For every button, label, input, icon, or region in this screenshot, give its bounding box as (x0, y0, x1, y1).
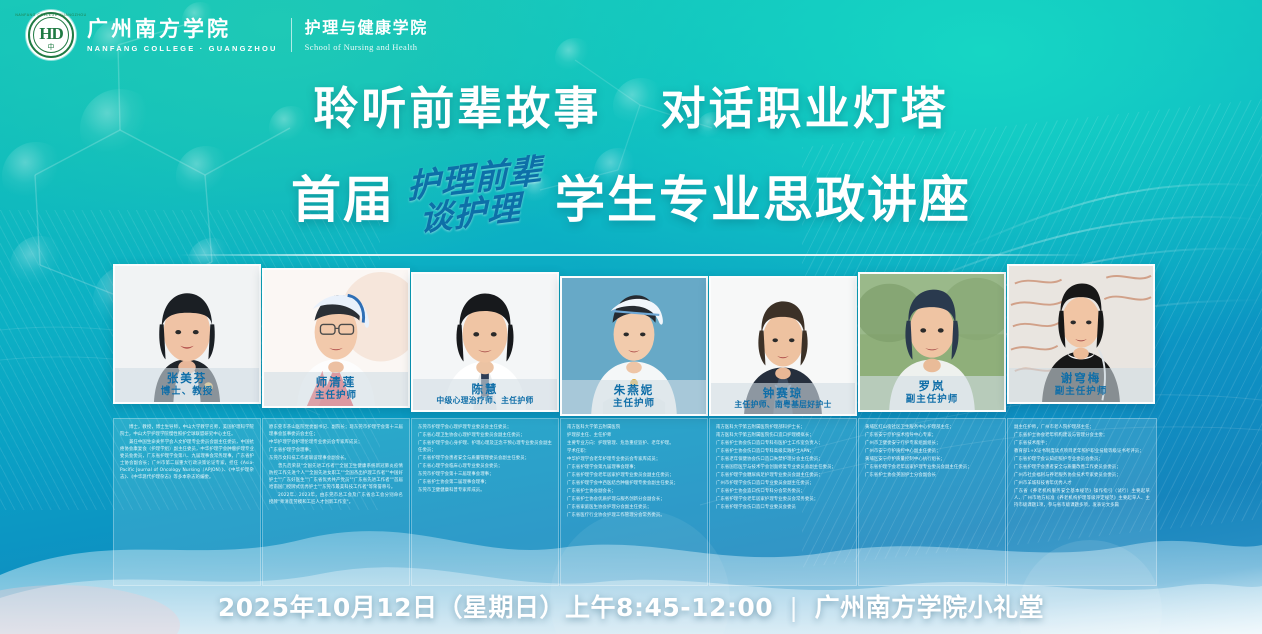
bio-paragraph: 广州市社会福利与养老服务协会技术专家委员会委员； (1014, 472, 1150, 479)
bio-paragraph: 广东省护理学会患者安全与质量改善工作委员会委员； (1014, 464, 1150, 471)
bio-paragraph: 广东省护理学会心身护理、护理心理及正念干预心理专业委员会副主任委员； (418, 440, 552, 454)
bio-paragraph: 学术任职： (567, 448, 701, 455)
bio-paragraph: 副主任护师，广州市老人院护理部主任； (1014, 424, 1150, 431)
bio-paragraph: 中华护理学会护理伦理专业委员会专家库成员； (269, 439, 403, 446)
bio-paragraph: 原东莞市茶山医院党委副书记、副院长；现东莞市护理学会第十三届理事会监事委员会主任… (269, 424, 403, 438)
speaker-name: 张美芬 (115, 371, 259, 385)
speaker-name-band: 谢穹梅 副主任护师 (1009, 368, 1153, 402)
speaker-name: 师清莲 (264, 375, 408, 389)
bio-paragraph: 教育部1+X证书制度试点项目老年照护职业技能等级证书考评员； (1014, 448, 1150, 455)
main-title-part2: 对话职业灯塔 (661, 82, 949, 135)
speaker-bio: 副主任护师，广州市老人院护理部主任； 广东省护士协会老年机构建设与管理分会主委；… (1007, 418, 1157, 586)
speaker-photo: 罗岚 副主任护师 (858, 272, 1006, 412)
bio-paragraph: 南方医科大学第五附属医院伤口造口护理模拟长； (716, 432, 850, 439)
speaker-card: 陈慧 中级心理治疗师、主任护师 (411, 272, 559, 412)
university-crest-icon: NANFANG COLLEGE GUANGZHOU HD 中 (26, 10, 76, 60)
speaker-photo: 陈慧 中级心理治疗师、主任护师 (411, 272, 559, 412)
speaker-role: 主任护师 (264, 390, 408, 402)
script-emblem: 护理前辈 谈护理 (407, 154, 543, 238)
brand-header: NANFANG COLLEGE GUANGZHOU HD 中 广州南方学院 NA… (26, 10, 428, 60)
bio-paragraph: 广东省护理学会中西医结合肿瘤护理专委会副主任委员； (567, 480, 701, 487)
crest-monogram: HD (39, 25, 63, 42)
speaker-photo: 张美芬 博士、教授 (113, 264, 261, 404)
speaker-name-band: 朱燕妮 主任护师 (562, 380, 706, 414)
bio-paragraph: 广东省护士协会副会长； (567, 488, 701, 495)
bio-paragraph: 广东省老年保健协会伤口造口失禁护理分会主任委员； (716, 456, 850, 463)
school-name-cn: 护理与健康学院 (305, 18, 428, 37)
bio-paragraph: 主要专业方向：护理管理、危急重症监护、老年护理。 (567, 440, 701, 447)
speaker-role: 主任护师 (562, 398, 706, 410)
bio-paragraph: 广州市护理学会伤口造口专业委员会副主任委员； (716, 480, 850, 487)
bio-paragraph: 护理部主任、主任护师 (567, 432, 701, 439)
speaker-photo: 朱燕妮 主任护师 (560, 276, 708, 416)
bio-paragraph: 广东省护士协会伤口造口专科有医护士工作室负责人； (716, 440, 850, 447)
bio-paragraph: 广东省心理卫生协会心理护理专业委员会副主任委员； (418, 432, 552, 439)
speaker-photo: 谢穹梅 副主任护师 (1007, 264, 1155, 404)
bio-paragraph: 广东省医疗行业协会护理工作管理分会常务委员。 (567, 512, 701, 519)
bio-paragraph: 广东省护理学会糖尿病足护理专业委员会副主任委员； (716, 472, 850, 479)
bio-paragraph: 广东省安宁疗护技术指导中心专家； (865, 432, 999, 439)
speaker-card: 罗岚 副主任护师 (858, 272, 1006, 412)
bio-paragraph: 广东省国官医学与技术学会创面修复专业委员会副主任委员； (716, 464, 850, 471)
speaker-role: 副主任护师 (860, 394, 1004, 406)
speaker-role: 中级心理治疗师、主任护师 (413, 396, 557, 406)
poster-canvas: NANFANG COLLEGE GUANGZHOU HD 中 广州南方学院 NA… (0, 0, 1262, 634)
speaker-photo: 钟赛琼 主任护师、南粤基层好护士 (709, 276, 857, 416)
bio-paragraph: 广东省护士协会造口伤口专科分会常务委员； (716, 488, 850, 495)
subtitle-prefix: 首届 (291, 160, 395, 232)
bio-paragraph: 东莞市卫健健康科普专家库成员。 (418, 487, 552, 494)
main-title-part1: 聆听前辈故事 (313, 82, 601, 135)
speaker-bio: 博士，教授，博士生导师，中山大学教学名师，美国护理科学院院士，中山大学护理学院慢… (113, 418, 261, 586)
speaker-name: 陈慧 (413, 382, 557, 396)
bio-paragraph: 广东省护士协会英国护士分会副会长 (865, 472, 999, 479)
speaker-card: 师清莲 主任护师 (262, 268, 410, 408)
speaker-bio: 黄埔区红山街社区卫生服务中心护理部主任； 广东省安宁疗护技术指导中心专家； 广州… (858, 418, 1006, 586)
bio-paragraph: 南方医科大学第五附属医院 (567, 424, 701, 431)
speaker-card: 张美芬 博士、教授 (113, 264, 261, 404)
speaker-name-band: 张美芬 博士、教授 (115, 368, 259, 402)
speaker-name-band: 师清莲 主任护师 (264, 372, 408, 406)
bio-paragraph: 中华护理学会老年护理专业委员会专家库成员； (567, 456, 701, 463)
event-venue: 广州南方学院小礼堂 (815, 593, 1045, 622)
bio-paragraph: 广东省《养老机构服务安全基本规范》操作指引（试行）主要起草人、广州市地方标准《养… (1014, 488, 1150, 509)
bio-paragraph: 广东省护理学会患者安全与质量管理委员会副主任委员； (418, 455, 552, 462)
subtitle-row: 首届 护理前辈 谈护理 学生专业思政讲座 (0, 160, 1262, 232)
speaker-photo: 师清莲 主任护师 (262, 268, 410, 408)
bio-paragraph: 广东省护士协会第二届理事会理事； (418, 479, 552, 486)
speaker-name-band: 钟赛琼 主任护师、南粤基层好护士 (711, 383, 855, 415)
bio-paragraph: 黄埔区红山街社区卫生服务中心护理部主任； (865, 424, 999, 431)
university-name-en: NANFANG COLLEGE · GUANGZHOU (87, 44, 278, 53)
bio-paragraph: 南方医科大学第五附属医院护理部科护士长； (716, 424, 850, 431)
bio-paragraph: 广州市卫健委安宁疗护专家组副组长； (865, 440, 999, 447)
crest-arc-text: NANFANG COLLEGE GUANGZHOU (15, 13, 86, 17)
speaker-bio: 南方医科大学第五附属医院 护理部主任、主任护师 主要专业方向：护理管理、危急重症… (560, 418, 708, 586)
speaker-name: 罗岚 (860, 379, 1004, 393)
event-footer: 2025年10月12日（星期日）上午8:45-12:00 | 广州南方学院小礼堂 (0, 588, 1262, 624)
event-datetime: 2025年10月12日（星期日）上午8:45-12:00 (218, 593, 773, 622)
speaker-name-band: 罗岚 副主任护师 (860, 376, 1004, 410)
crest-center-glyph: 中 (48, 42, 55, 52)
bio-paragraph: 广东省技术能手； (1014, 440, 1150, 447)
bio-paragraph: 2022年、2023年，由东莞市总工会及广东省总工会分别命名授牌"师清莲劳模和工… (269, 492, 403, 506)
bio-paragraph: 广东省心理学会临床心理专业委员会委员； (418, 463, 552, 470)
bio-paragraph: 广东省护理学会老年居家护理专业委员会副主任委员； (567, 472, 701, 479)
footer-separator: | (789, 593, 798, 622)
speaker-card: 谢穹梅 副主任护师 (1007, 264, 1155, 404)
bio-paragraph: 东莞市女科技工作者联谊理事会副会长。 (269, 455, 403, 462)
bio-paragraph: 黄埔区安宁疗护质量控制中心执行组长； (865, 456, 999, 463)
speaker-name: 钟赛琼 (711, 386, 855, 400)
bio-paragraph: 曾先后荣获"全国先进工作者""全国卫生健康系统新冠肺炎疫情防控工作先进个人""全… (269, 463, 403, 491)
speaker-bio: 原东莞市茶山医院党委副书记、副院长；现东莞市护理学会第十三届理事会监事委员会主任… (262, 418, 410, 586)
bio-paragraph: 广东省护士协会老年机构建设与管理分会主委； (1014, 432, 1150, 439)
main-title: 聆听前辈故事 对话职业灯塔 (0, 72, 1262, 137)
bio-paragraph: 广东省护理学会老年居家护理专业委员会常务委员； (716, 496, 850, 503)
speaker-name: 朱燕妮 (562, 383, 706, 397)
bio-paragraph: 广东省护理学会第九届理事会理事； (567, 464, 701, 471)
bio-paragraph: 东莞市护理学会第十三届理事会理事； (418, 471, 552, 478)
school-name-en: School of Nursing and Health (305, 42, 428, 52)
header-divider (291, 18, 292, 52)
bio-paragraph: 广东省护理学会认知症照护专业委员会委员； (1014, 456, 1150, 463)
bio-paragraph: 广东省护理学会老年居家护理专业委员会副主任委员； (865, 464, 999, 471)
university-name-cn: 广州南方学院 (87, 17, 278, 41)
speaker-name: 谢穹梅 (1009, 371, 1153, 385)
speaker-bio: 南方医科大学第五附属医院护理部科护士长； 南方医科大学第五附属医院伤口造口护理模… (709, 418, 857, 586)
speaker-role: 副主任护师 (1009, 386, 1153, 398)
bio-paragraph: 广东省家庭医生协会护理分会副主任委员； (567, 504, 701, 511)
speaker-bio: 东莞市护理学会心理护理专业委员会主任委员； 广东省心理卫生协会心理护理专业委员会… (411, 418, 559, 586)
bio-paragraph: 广州市安宁疗护质控中心副主任委员； (865, 448, 999, 455)
bio-paragraph: 广东省护士协会优质护理与服务创新分会副会长； (567, 496, 701, 503)
speaker-card: 朱燕妮 主任护师 (560, 276, 708, 416)
bio-paragraph: 广州市羊城科技青年优秀人才 (1014, 480, 1150, 487)
bio-paragraph: 东莞市护理学会心理护理专业委员会主任委员； (418, 424, 552, 431)
speaker-card: 钟赛琼 主任护师、南粤基层好护士 (709, 276, 857, 416)
speaker-role: 博士、教授 (115, 386, 259, 398)
bio-paragraph: 广东省护理学会伤口造口专业委员会委员 (716, 504, 850, 511)
bio-paragraph: 广东省护士协会伤口造口专科高级实践护士APN； (716, 448, 850, 455)
subtitle-suffix: 学生专业思政讲座 (555, 160, 971, 232)
bio-paragraph: 博士，教授，博士生导师，中山大学教学名师，美国护理科学院院士，中山大学护理学院慢… (120, 424, 254, 438)
bio-paragraph: 兼任中国生命关怀学会人文护理专业委员会副主任委员，中国抗癌协会康复会（护理学组）… (120, 439, 254, 481)
speaker-role: 主任护师、南粤基层好护士 (711, 400, 855, 410)
bio-paragraph: 广东省护理学会理事； (269, 447, 403, 454)
speaker-name-band: 陈慧 中级心理治疗师、主任护师 (413, 379, 557, 411)
